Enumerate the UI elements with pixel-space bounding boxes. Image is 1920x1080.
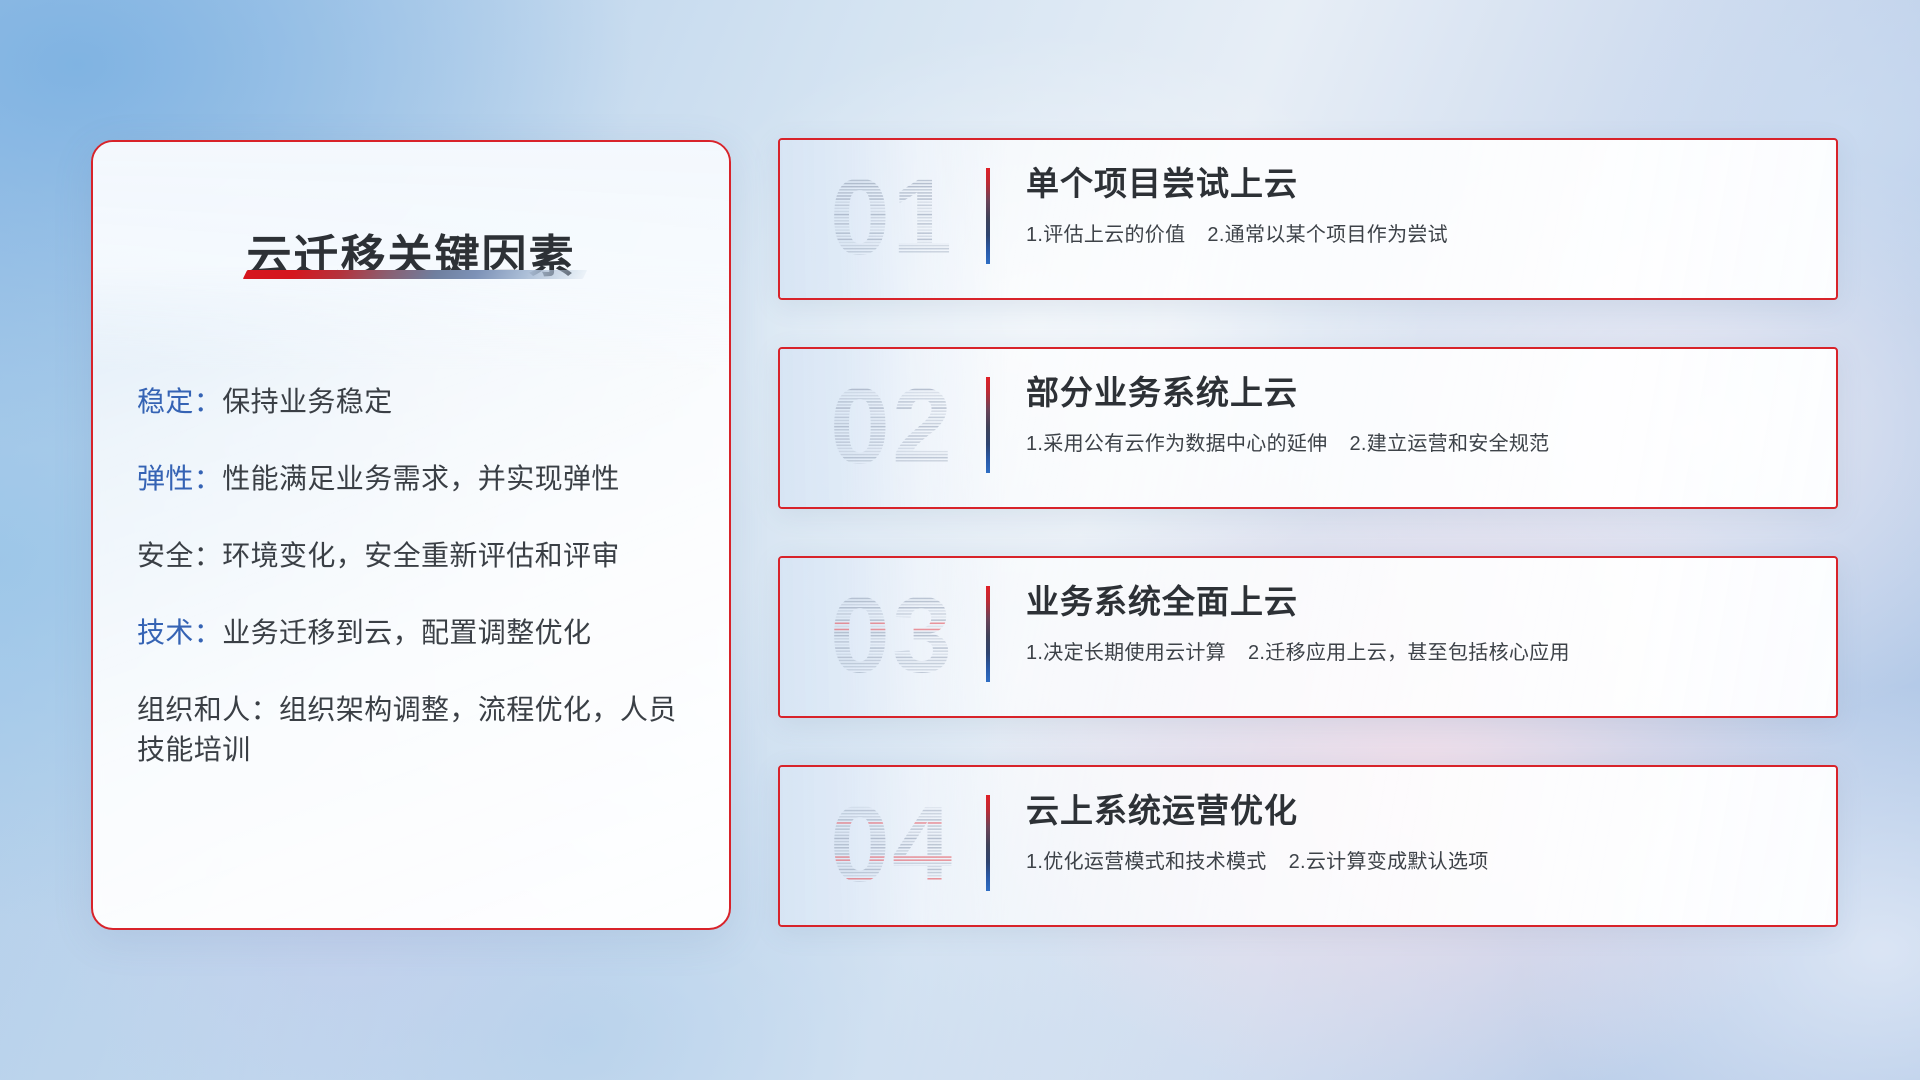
stage-number: 04 (812, 785, 972, 905)
stage-title: 部分业务系统上云 (1026, 373, 1808, 413)
stage-card[interactable]: 02部分业务系统上云1.采用公有云作为数据中心的延伸2.建立运营和安全规范 (778, 347, 1838, 509)
stage-points: 1.评估上云的价值2.通常以某个项目作为尝试 (1026, 218, 1808, 247)
key-factor-text: 性能满足业务需求，并实现弹性 (222, 463, 620, 494)
stage-card[interactable]: 04云上系统运营优化1.优化运营模式和技术模式2.云计算变成默认选项 (778, 765, 1838, 927)
accent-bar (986, 377, 990, 473)
key-factor-label: 技术： (137, 617, 222, 648)
key-factors-list: 稳定：保持业务稳定弹性：性能满足业务需求，并实现弹性安全：环境变化，安全重新评估… (137, 382, 699, 807)
stage-title: 云上系统运营优化 (1026, 791, 1808, 831)
stage-point-2: 2.云计算变成默认选项 (1289, 851, 1489, 873)
stage-point-1: 1.优化运营模式和技术模式 (1026, 851, 1267, 873)
key-factors-panel: 云迁移关键因素 稳定：保持业务稳定弹性：性能满足业务需求，并实现弹性安全：环境变… (91, 140, 731, 930)
stage-point-1: 1.采用公有云作为数据中心的延伸 (1026, 433, 1327, 455)
cloud-migration-stages: 01单个项目尝试上云1.评估上云的价值2.通常以某个项目作为尝试02部分业务系统… (778, 138, 1838, 974)
stage-text-block: 部分业务系统上云1.采用公有云作为数据中心的延伸2.建立运营和安全规范 (1026, 373, 1808, 456)
stage-point-2: 2.建立运营和安全规范 (1349, 433, 1549, 455)
key-factor-item: 弹性：性能满足业务需求，并实现弹性 (137, 459, 699, 500)
stage-text-block: 云上系统运营优化1.优化运营模式和技术模式2.云计算变成默认选项 (1026, 791, 1808, 874)
key-factor-item: 组织和人：组织架构调整，流程优化，人员技能培训 (137, 690, 699, 772)
stage-text-block: 业务系统全面上云1.决定长期使用云计算2.迁移应用上云，甚至包括核心应用 (1026, 582, 1808, 665)
stage-card[interactable]: 03业务系统全面上云1.决定长期使用云计算2.迁移应用上云，甚至包括核心应用 (778, 556, 1838, 718)
key-factor-item: 技术：业务迁移到云，配置调整优化 (137, 613, 699, 654)
accent-bar (986, 586, 990, 682)
stage-number: 02 (812, 367, 972, 487)
stage-point-1: 1.评估上云的价值 (1026, 224, 1185, 246)
key-factor-item: 安全：环境变化，安全重新评估和评审 (137, 536, 699, 577)
key-factor-label: 组织和人： (137, 694, 279, 725)
key-factor-text: 环境变化，安全重新评估和评审 (222, 540, 620, 571)
stage-points: 1.采用公有云作为数据中心的延伸2.建立运营和安全规范 (1026, 427, 1808, 456)
title-underline-accent (243, 270, 587, 279)
stage-points: 1.决定长期使用云计算2.迁移应用上云，甚至包括核心应用 (1026, 636, 1808, 665)
stage-title: 业务系统全面上云 (1026, 582, 1808, 622)
stage-point-2: 2.迁移应用上云，甚至包括核心应用 (1248, 642, 1570, 664)
accent-bar (986, 168, 990, 264)
accent-bar (986, 795, 990, 891)
stage-point-1: 1.决定长期使用云计算 (1026, 642, 1226, 664)
stage-number: 01 (812, 158, 972, 278)
key-factor-label: 安全： (137, 540, 222, 571)
key-factor-label: 稳定： (137, 386, 222, 417)
key-factor-text: 业务迁移到云，配置调整优化 (222, 617, 591, 648)
stage-title: 单个项目尝试上云 (1026, 164, 1808, 204)
stage-point-2: 2.通常以某个项目作为尝试 (1207, 224, 1448, 246)
stage-number: 03 (812, 576, 972, 696)
key-factor-item: 稳定：保持业务稳定 (137, 382, 699, 423)
stage-text-block: 单个项目尝试上云1.评估上云的价值2.通常以某个项目作为尝试 (1026, 164, 1808, 247)
key-factor-text: 保持业务稳定 (222, 386, 392, 417)
stage-card[interactable]: 01单个项目尝试上云1.评估上云的价值2.通常以某个项目作为尝试 (778, 138, 1838, 300)
key-factor-label: 弹性： (137, 463, 222, 494)
stage-points: 1.优化运营模式和技术模式2.云计算变成默认选项 (1026, 845, 1808, 874)
